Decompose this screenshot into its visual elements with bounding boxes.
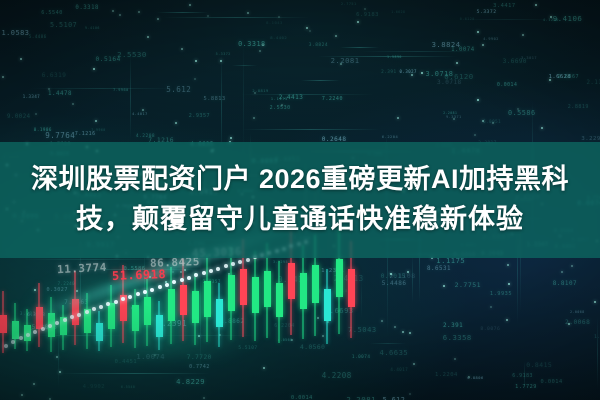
headline-line-2: 技，颠覆留守儿童通话快准稳新体验 <box>76 202 524 238</box>
headline-block: 深圳股票配资门户 2026重磅更新AI加持黑科 技，颠覆留守儿童通话快准稳新体验 <box>0 142 600 258</box>
banner-image: 0.00141.23912.3913.30170.84155.6121.0074… <box>0 0 600 400</box>
headline-line-1: 深圳股票配资门户 2026重磅更新AI加持黑科 <box>31 162 569 198</box>
